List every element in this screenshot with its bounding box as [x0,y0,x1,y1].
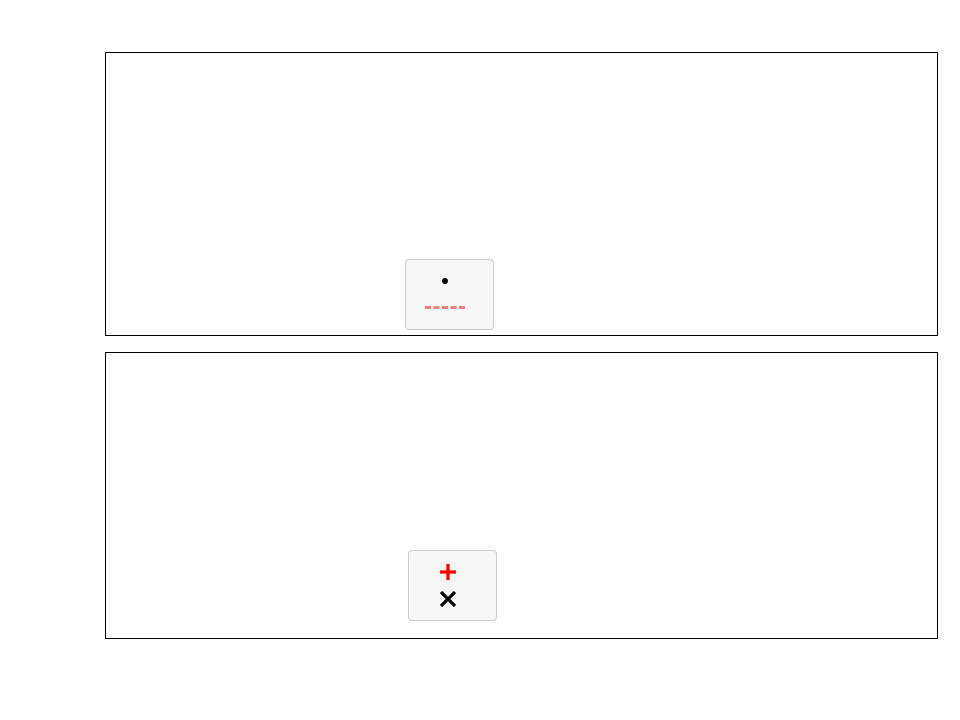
count-panel [105,352,938,639]
legend-item-matched-stars [422,558,483,585]
ratio-plot-area [106,53,937,335]
ratio-panel [105,52,938,336]
dot-marker-icon [419,278,471,284]
legend-item-predicted-stars [422,585,483,612]
legend-item-measurements [419,267,480,294]
ratio-legend [405,259,494,330]
figure-root [0,0,960,720]
dashed-line-marker-icon [419,306,471,309]
count-legend [408,550,497,621]
plus-marker-icon [422,561,474,583]
count-plot-area [106,353,937,638]
cross-marker-icon [422,588,474,610]
legend-item-threshold [419,294,480,321]
